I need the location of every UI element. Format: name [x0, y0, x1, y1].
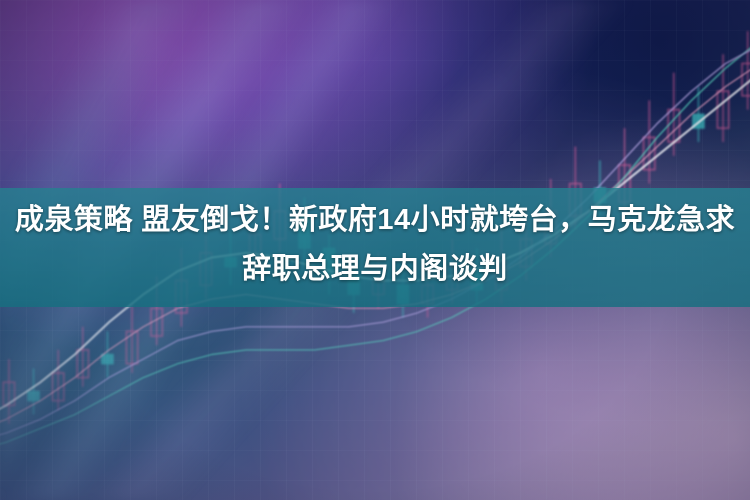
- candle-body: [102, 355, 113, 364]
- headline-title: 成泉策略 盟友倒戈！新政府14小时就垮台，马克龙急求辞职总理与内阁谈判: [0, 196, 750, 294]
- candle-body: [28, 391, 39, 400]
- candle-body: [742, 63, 750, 95]
- news-banner: 成泉策略 盟友倒戈！新政府14小时就垮台，马克龙急求辞职总理与内阁谈判: [0, 0, 750, 500]
